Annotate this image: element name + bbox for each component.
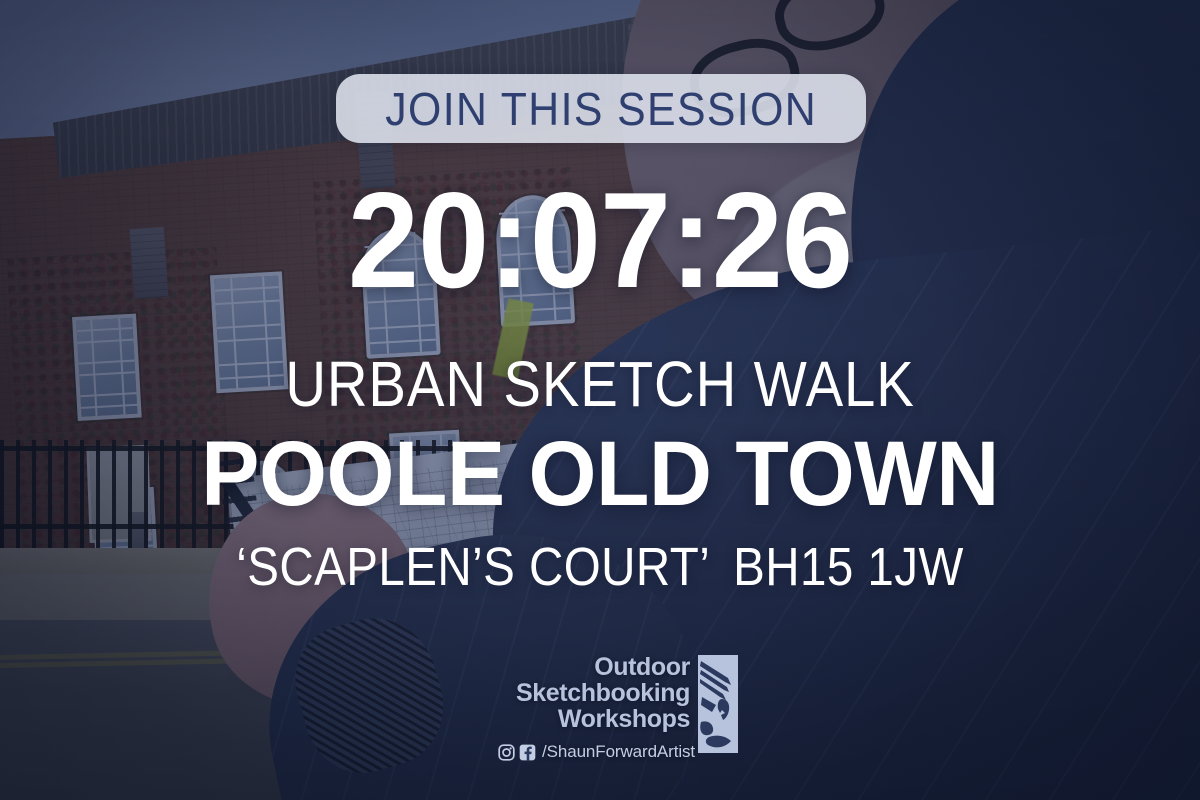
brand-line-2: Sketchbooking (498, 681, 690, 707)
social-handle-label: /ShaunForwardArtist (542, 742, 695, 762)
venue-line: ‘SCAPLEN’S COURT’BH15 1JW (72, 540, 1128, 594)
join-session-label: JOIN THIS SESSION (385, 82, 817, 136)
brand-line-1: Outdoor (498, 655, 690, 681)
social-handles[interactable]: /ShaunForwardArtist (498, 742, 680, 762)
event-kicker: URBAN SKETCH WALK (72, 352, 1128, 416)
venue-postcode: BH15 1JW (733, 537, 964, 597)
join-session-button[interactable]: JOIN THIS SESSION (336, 74, 866, 143)
venue-name: ‘SCAPLEN’S COURT’ (236, 537, 710, 597)
countdown-timer: 20:07:26 (36, 172, 1164, 308)
poster-content: JOIN THIS SESSION 20:07:26 URBAN SKETCH … (0, 0, 1200, 800)
pencil-nib-brush-mark-icon (698, 655, 738, 753)
instagram-icon[interactable] (498, 744, 515, 761)
brand-logo-wordmark: Outdoor Sketchbooking Workshops (498, 655, 698, 732)
facebook-icon[interactable] (519, 744, 536, 761)
brand-line-3: Workshops (498, 707, 690, 733)
promo-poster: JOIN THIS SESSION 20:07:26 URBAN SKETCH … (0, 0, 1200, 800)
page-title: POOLE OLD TOWN (30, 428, 1170, 520)
